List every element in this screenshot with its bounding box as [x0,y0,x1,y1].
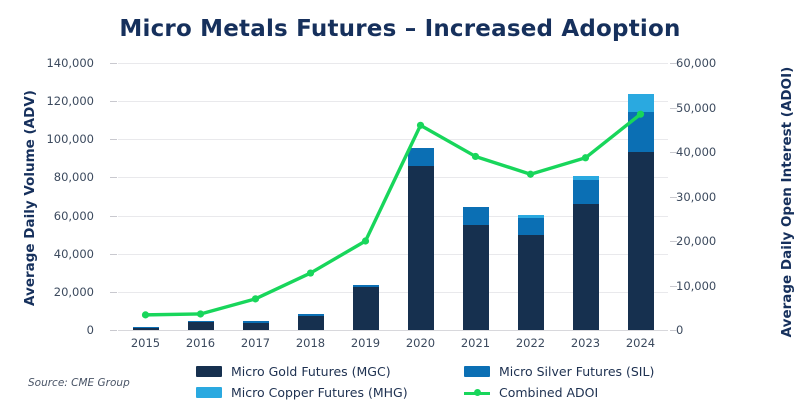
bar-segment-mgc[interactable] [188,322,214,330]
bar-segment-mgc[interactable] [463,225,489,330]
y-tick-label-right: 40,000 [676,145,716,159]
bar-segment-mhg[interactable] [628,94,654,112]
bar-column[interactable] [408,148,434,330]
bar-segment-sil[interactable] [188,321,214,322]
y-tick-mark-right [670,241,677,242]
bar-segment-mgc[interactable] [298,316,324,330]
y-axis-title-right: Average Daily Open Interest (ADOI) [779,0,795,62]
bar-segment-sil[interactable] [133,327,159,328]
y-tick-mark-right [670,197,677,198]
y-tick-label-left: 20,000 [54,285,94,299]
chart-title: Micro Metals Futures – Increased Adoptio… [0,16,800,42]
legend-item-mhg[interactable]: Micro Copper Futures (MHG) [196,385,464,400]
bar-segment-mgc[interactable] [243,323,269,330]
y-tick-mark-left [110,330,117,331]
bar-segment-sil[interactable] [408,148,434,166]
y-tick-mark-left [110,216,117,217]
legend-row-1: Micro Gold Futures (MGC) Micro Silver Fu… [196,361,656,382]
y-tick-mark-right [670,330,677,331]
bar-column[interactable] [298,314,324,330]
bar-segment-mgc[interactable] [518,235,544,330]
bar-segment-mgc[interactable] [573,204,599,330]
x-tick-label: 2019 [351,336,380,350]
x-tick-label: 2016 [186,336,215,350]
bar-segment-mhg[interactable] [518,215,544,218]
y-tick-label-left: 100,000 [46,132,94,146]
legend-item-mgc[interactable]: Micro Gold Futures (MGC) [196,364,464,379]
bar-column[interactable] [188,321,214,330]
x-tick-label: 2024 [626,336,655,350]
y-tick-label-left: 0 [87,323,94,337]
x-tick-label: 2023 [571,336,600,350]
legend-swatch-adoi [464,387,490,398]
chart-legend: Micro Gold Futures (MGC) Micro Silver Fu… [196,361,656,403]
gridline [118,63,668,64]
y-tick-label-right: 20,000 [676,234,716,248]
legend-label-adoi: Combined ADOI [499,385,598,400]
y-tick-label-left: 40,000 [54,247,94,261]
y-tick-label-right: 60,000 [676,56,716,70]
x-tick-label: 2018 [296,336,325,350]
bar-column[interactable] [628,94,654,330]
gridline [118,330,668,331]
bar-segment-sil[interactable] [573,180,599,204]
bar-column[interactable] [133,327,159,330]
y-tick-label-right: 30,000 [676,190,716,204]
bar-segment-mgc[interactable] [628,152,654,330]
bar-column[interactable] [573,176,599,330]
y-tick-mark-right [670,152,677,153]
bar-segment-sil[interactable] [353,285,379,287]
bar-segment-sil[interactable] [628,112,654,152]
y-axis-title-left: Average Daily Volume (ADV) [0,0,8,68]
legend-item-sil[interactable]: Micro Silver Futures (SIL) [464,364,654,379]
y-tick-mark-right [670,286,677,287]
y-tick-label-right: 50,000 [676,101,716,115]
y-tick-label-left: 120,000 [46,94,94,108]
legend-label-mhg: Micro Copper Futures (MHG) [231,385,408,400]
y-tick-label-left: 140,000 [46,56,94,70]
bar-column[interactable] [463,207,489,330]
y-axis-title-left-text: Average Daily Volume (ADV) [22,68,38,328]
y-tick-mark-left [110,101,117,102]
y-tick-mark-right [670,63,677,64]
bar-segment-sil[interactable] [243,321,269,323]
bar-segment-sil[interactable] [518,218,544,234]
bar-column[interactable] [353,285,379,330]
y-tick-label-left: 80,000 [54,170,94,184]
bar-segment-mgc[interactable] [353,287,379,330]
x-tick-label: 2017 [241,336,270,350]
bar-segment-sil[interactable] [463,207,489,225]
bar-column[interactable] [518,215,544,330]
y-tick-mark-left [110,177,117,178]
y-tick-mark-left [110,63,117,64]
bar-segment-mgc[interactable] [408,166,434,330]
plot-area [118,63,668,330]
legend-row-2: Micro Copper Futures (MHG) Combined ADOI [196,382,656,403]
y-tick-label-right: 10,000 [676,279,716,293]
y-tick-label-left: 60,000 [54,209,94,223]
y-tick-mark-left [110,254,117,255]
legend-swatch-sil [464,366,490,377]
y-tick-mark-left [110,139,117,140]
legend-item-adoi[interactable]: Combined ADOI [464,385,598,400]
y-axis-title-right-text: Average Daily Open Interest (ADOI) [779,62,795,342]
x-tick-label: 2022 [516,336,545,350]
y-tick-mark-left [110,292,117,293]
legend-swatch-mgc [196,366,222,377]
x-tick-label: 2020 [406,336,435,350]
bar-segment-sil[interactable] [298,314,324,316]
y-tick-label-right: 0 [676,323,683,337]
bar-segment-mgc[interactable] [133,328,159,330]
legend-label-sil: Micro Silver Futures (SIL) [499,364,654,379]
legend-swatch-mhg [196,387,222,398]
legend-label-mgc: Micro Gold Futures (MGC) [231,364,391,379]
bar-column[interactable] [243,321,269,330]
chart-container: Micro Metals Futures – Increased Adoptio… [0,0,800,419]
gridline [118,139,668,140]
x-tick-label: 2015 [131,336,160,350]
bar-segment-mhg[interactable] [573,176,599,181]
gridline [118,101,668,102]
source-note: Source: CME Group [28,377,130,389]
x-tick-label: 2021 [461,336,490,350]
y-tick-mark-right [670,108,677,109]
